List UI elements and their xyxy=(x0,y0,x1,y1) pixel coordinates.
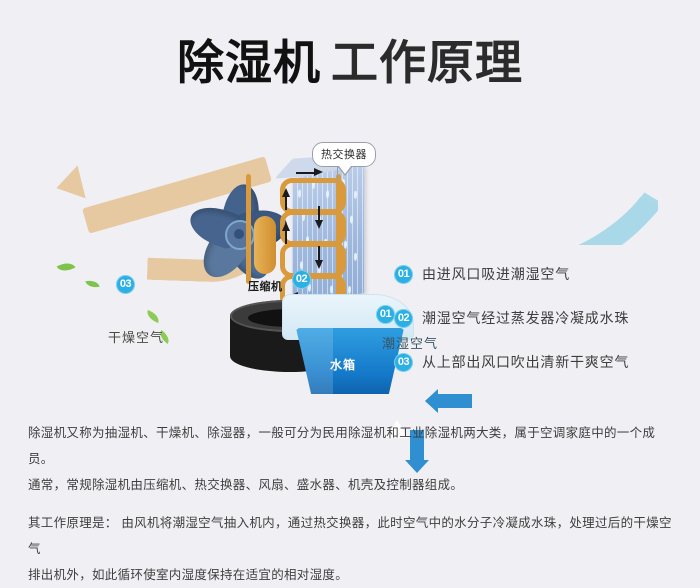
flow-arrow-down-icon xyxy=(315,220,323,229)
coil-downcomer xyxy=(336,174,341,304)
diagram-badge-step1: 01 xyxy=(376,305,395,324)
accumulator-cylinder xyxy=(254,216,276,274)
legend-item-label: 由进风口吸进潮湿空气 xyxy=(422,264,570,284)
flow-arrow-up-icon xyxy=(282,188,290,197)
flow-arrow-down-icon xyxy=(315,260,323,269)
page-title-part1: 除湿机 xyxy=(177,36,321,89)
flow-arrow-up-icon xyxy=(282,222,290,231)
compressor-label: 压缩机 xyxy=(248,278,283,294)
flow-arrow-stem xyxy=(285,196,287,210)
intake-arrow-icon xyxy=(438,394,472,408)
diagram-badge-step2: 02 xyxy=(292,270,311,289)
page-title: 除湿机工作原理 xyxy=(0,34,700,92)
legend-item: 03 从上部出风口吹出清新干爽空气 xyxy=(394,340,684,384)
flow-arrow-stem xyxy=(318,206,320,220)
diagram-badge-step3: 03 xyxy=(116,275,135,294)
flow-arrow-right-icon xyxy=(314,168,323,176)
steps-legend: 01 由进风口吸进潮湿空气 02 潮湿空气经过蒸发器冷凝成水珠 03 从上部出风… xyxy=(394,252,684,384)
legend-item-label: 潮湿空气经过蒸发器冷凝成水珠 xyxy=(422,308,629,328)
body-copy: 除湿机又称为抽湿机、干燥机、除湿器，一般可分为民用除湿机和工业除湿机两大类，属于… xyxy=(28,420,676,588)
water-tank-highlight xyxy=(296,328,333,394)
infographic-page: 除湿机工作原理 干燥空气 xyxy=(0,0,700,566)
heat-exchanger-callout: 热交换器 xyxy=(312,142,376,167)
paragraph1-line2: 通常，常规除湿机由压缩机、热交换器、风扇、盛水器、机壳及控制器组成。 xyxy=(28,472,676,498)
water-tank-label: 水箱 xyxy=(330,356,356,373)
legend-item-label: 从上部出风口吹出清新干爽空气 xyxy=(422,352,629,372)
legend-badge: 02 xyxy=(394,309,413,328)
legend-badge: 01 xyxy=(394,265,413,284)
dry-air-label: 干燥空气 xyxy=(108,327,164,346)
legend-item: 01 由进风口吸进潮湿空气 xyxy=(394,252,684,296)
flow-arrow-stem xyxy=(285,230,287,244)
paragraph-gap xyxy=(28,498,676,510)
leaf-icon xyxy=(145,310,161,323)
paragraph2-line1: 其工作原理是： 由风机将潮湿空气抽入机内，通过热交换器，此时空气中的水分子冷凝成… xyxy=(28,510,676,562)
legend-badge: 03 xyxy=(394,353,413,372)
legend-item: 02 潮湿空气经过蒸发器冷凝成水珠 xyxy=(394,296,684,340)
page-title-part2: 工作原理 xyxy=(331,36,523,89)
coil-riser xyxy=(246,174,251,284)
dry-air-arrow-head xyxy=(52,165,85,204)
paragraph1-line1: 除湿机又称为抽湿机、干燥机、除湿器，一般可分为民用除湿机和工业除湿机两大类，属于… xyxy=(28,420,676,472)
flow-arrow-stem xyxy=(318,246,320,260)
flow-arrow-stem xyxy=(296,172,314,174)
